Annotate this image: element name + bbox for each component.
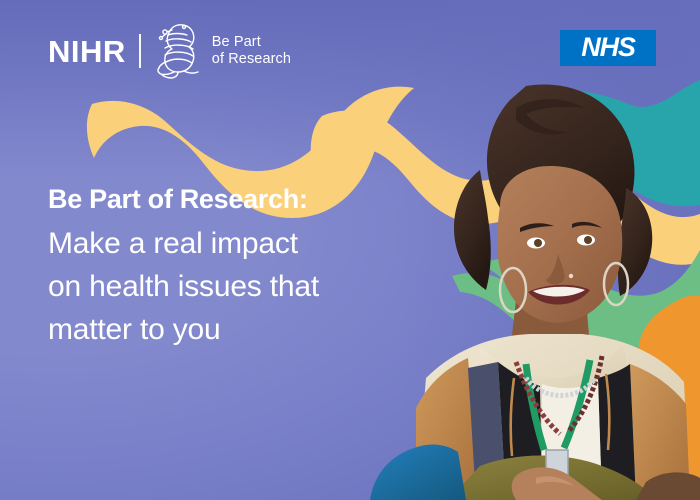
headline-light-lines: Make a real impact on health issues that…	[48, 223, 428, 351]
nhs-logo-label: NHS	[581, 34, 634, 61]
nihr-wordmark: NIHR	[48, 36, 126, 67]
headline-bold-line: Be Part of Research:	[48, 183, 428, 215]
be-part-of-research-banner: NIHR Be Part of Research	[0, 0, 700, 500]
nihr-logo[interactable]: NIHR Be Part of Research	[48, 25, 291, 77]
jeans	[370, 445, 466, 500]
nihr-tagline: Be Part of Research	[212, 34, 291, 68]
nhs-logo[interactable]: NHS	[560, 30, 656, 66]
headline-line-2: on health issues that	[48, 266, 428, 309]
iris-right	[584, 236, 592, 244]
nihr-organic-linework-icon	[154, 23, 206, 79]
nose-stud	[569, 274, 573, 278]
headline-block: Be Part of Research: Make a real impact …	[48, 183, 428, 351]
headline-line-3: matter to you	[48, 309, 428, 352]
hair-side-left	[454, 170, 491, 290]
nihr-divider	[139, 34, 141, 68]
headline-line-1: Make a real impact	[48, 223, 428, 266]
iris-left	[534, 239, 542, 247]
